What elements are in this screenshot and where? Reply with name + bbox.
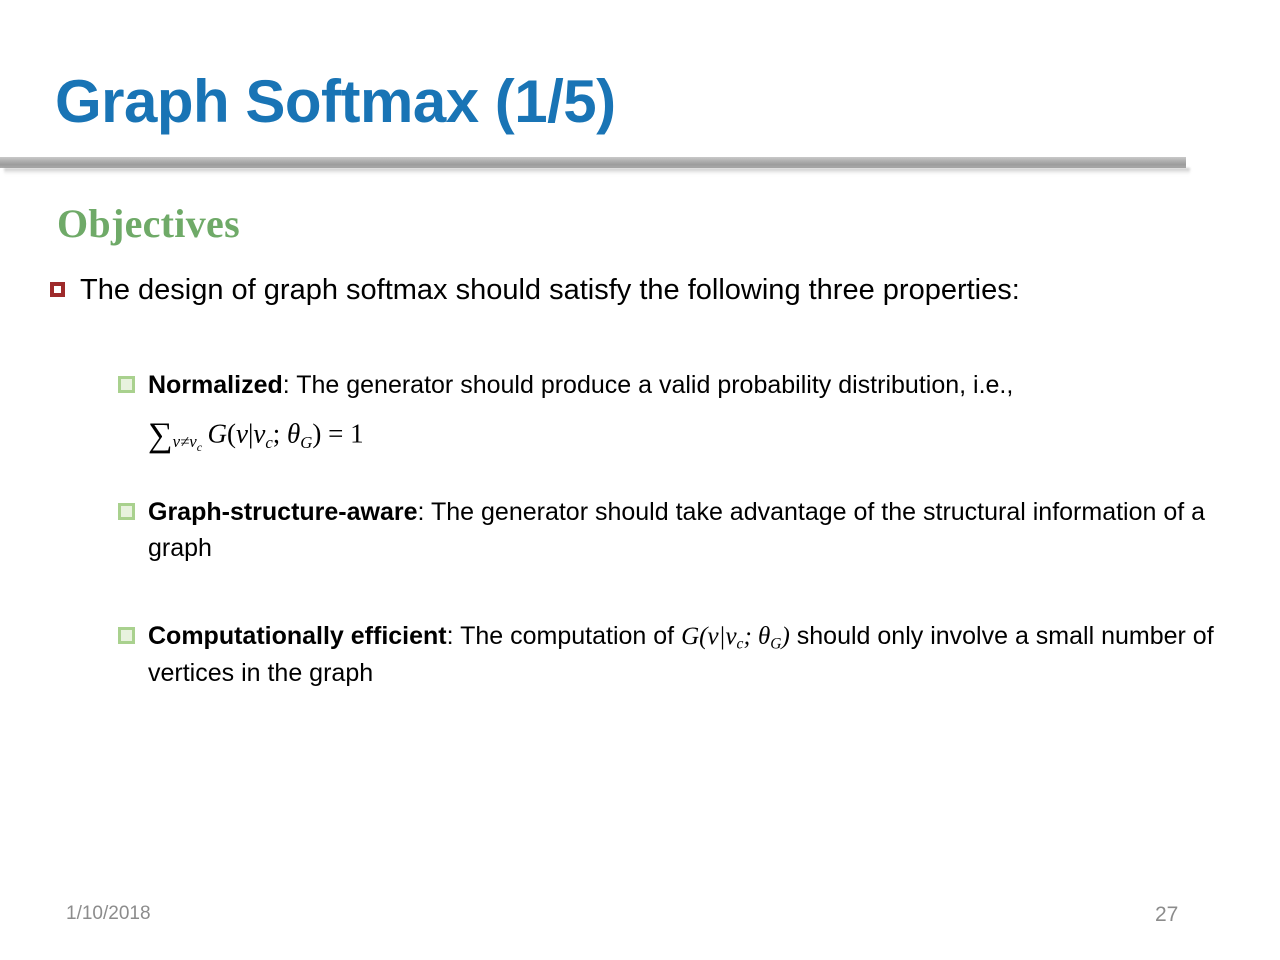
property-graph-structure-aware-separator: : xyxy=(418,498,431,526)
formula-arg-v: v xyxy=(236,418,248,448)
property-item-normalized: Normalized: The generator should produce… xyxy=(118,368,1228,460)
property-graph-structure-aware-term: Graph-structure-aware xyxy=(148,498,418,526)
inline-semicolon: ; xyxy=(743,623,758,650)
property-normalized-text: The generator should produce a valid pro… xyxy=(296,371,1013,399)
formula-open-paren: ( xyxy=(227,418,236,448)
summation-subscript: v≠vc xyxy=(173,432,202,451)
title-divider xyxy=(0,157,1186,168)
formula-generator-probability-inline: G(v|vc; θG) xyxy=(681,623,790,650)
property-computationally-efficient-text-before: The computation of xyxy=(460,622,681,650)
summation-symbol: ∑ xyxy=(148,416,173,454)
slide-canvas: Graph Softmax (1/5) Objectives The desig… xyxy=(0,0,1280,960)
property-item-computationally-efficient: Computationally efficient: The computati… xyxy=(118,619,1228,691)
page-title: Graph Softmax (1/5) xyxy=(55,70,616,133)
formula-normalization-constraint: ∑v≠vc G(v|vc; θG) = 1 xyxy=(148,411,1013,460)
inline-arg-v: v xyxy=(707,623,718,650)
bullet-square-green-icon xyxy=(118,376,135,393)
bullet-square-red-icon xyxy=(50,282,65,297)
formula-function-g: G xyxy=(207,418,227,448)
lead-bullet-text: The design of graph softmax should satis… xyxy=(80,272,1020,308)
lead-bullet-item: The design of graph softmax should satis… xyxy=(50,272,1220,308)
property-normalized-body: Normalized: The generator should produce… xyxy=(148,368,1013,460)
inline-theta: θ xyxy=(758,623,770,650)
inline-theta-subscript: G xyxy=(770,636,781,653)
inline-close-paren: ) xyxy=(782,623,790,650)
formula-theta: θ xyxy=(287,418,300,448)
summation-subscript-nested: c xyxy=(197,440,202,454)
inline-function-g: G xyxy=(681,623,699,650)
formula-value: 1 xyxy=(350,418,364,448)
property-item-graph-structure-aware: Graph-structure-aware: The generator sho… xyxy=(118,495,1228,566)
property-computationally-efficient-term: Computationally efficient xyxy=(148,622,447,650)
property-computationally-efficient-body: Computationally efficient: The computati… xyxy=(148,619,1228,691)
formula-semicolon: ; xyxy=(273,418,287,448)
formula-cond-v: v xyxy=(253,418,265,448)
section-heading-objectives: Objectives xyxy=(57,200,240,247)
bullet-square-green-icon xyxy=(118,627,135,644)
footer-date: 1/10/2018 xyxy=(66,903,151,925)
formula-equals: = xyxy=(321,418,350,448)
formula-cond-subscript: c xyxy=(265,432,272,451)
footer-page-number: 27 xyxy=(1155,903,1178,927)
property-normalized-term: Normalized xyxy=(148,371,283,399)
title-divider-shadow xyxy=(4,168,1190,175)
bullet-square-green-icon xyxy=(118,503,135,520)
property-graph-structure-aware-body: Graph-structure-aware: The generator sho… xyxy=(148,495,1228,566)
property-computationally-efficient-separator: : xyxy=(447,622,460,650)
inline-cond-v: v xyxy=(725,623,736,650)
summation-subscript-main: v≠v xyxy=(173,432,197,451)
property-normalized-separator: : xyxy=(283,371,296,399)
formula-theta-subscript: G xyxy=(300,432,312,451)
